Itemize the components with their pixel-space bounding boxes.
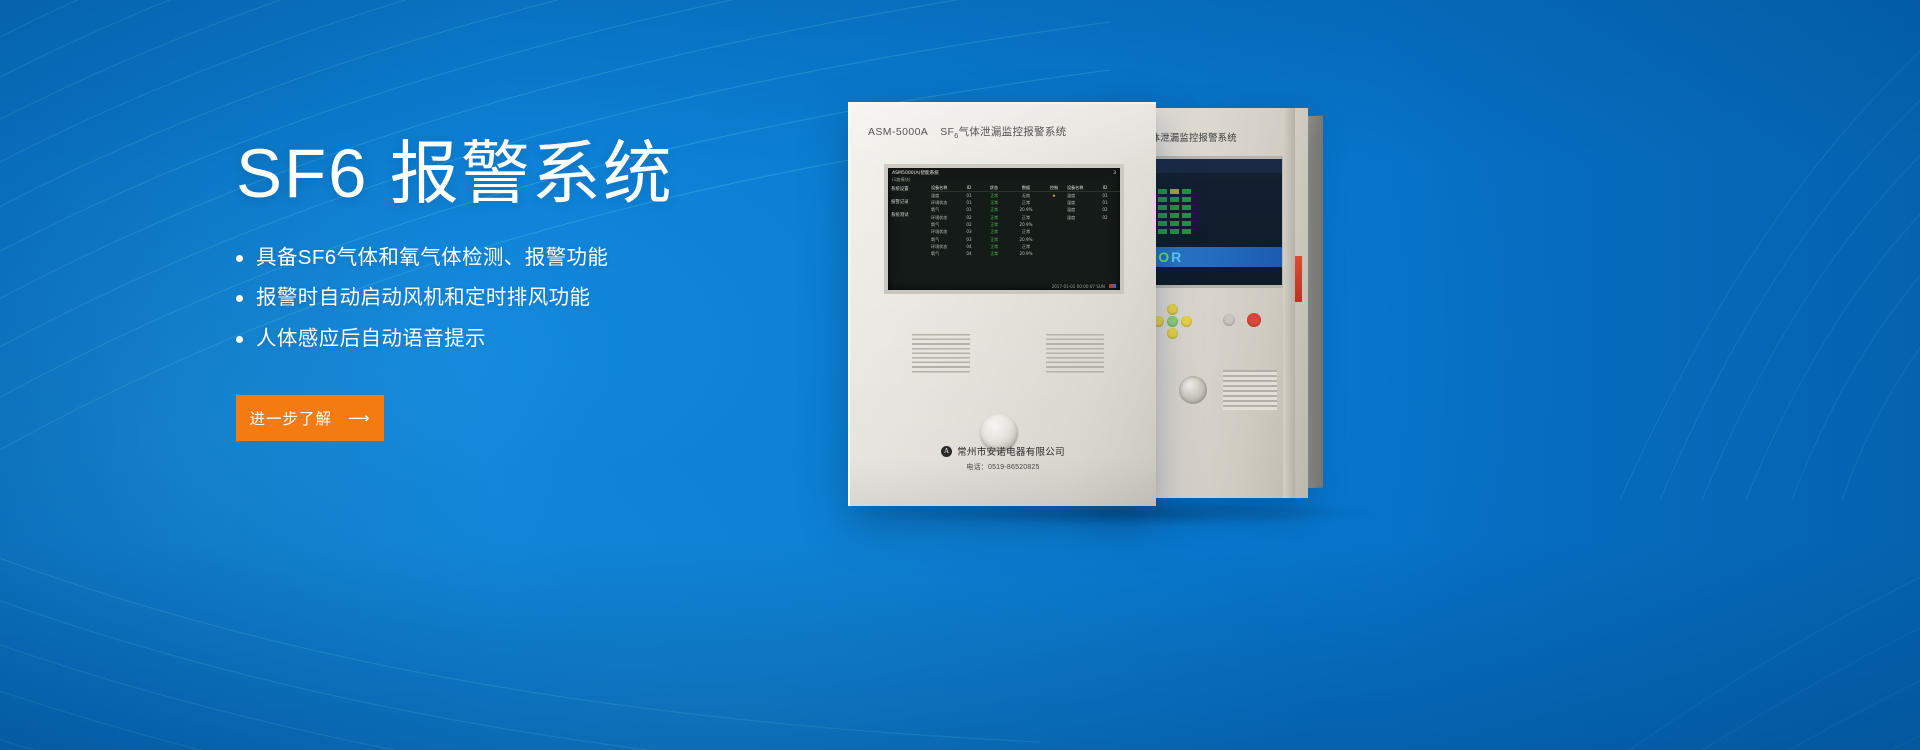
table-cell [1067, 238, 1097, 242]
front-cabinet: ASM-5000ASF6气体泄漏监控报警系统 ASM5000(A)智能系统 3 … [848, 102, 1156, 506]
screen-menu[interactable]: 系统设置 报警记录 系统测试 [888, 184, 928, 280]
table-cell [1041, 201, 1067, 205]
col-name-2: 设备名称 [1067, 186, 1097, 190]
table-cell: 氧气 [931, 208, 961, 212]
table-cell [1041, 208, 1067, 212]
screen-menu-item-0[interactable]: 系统设置 [891, 186, 926, 192]
rear-speaker-grille [1223, 370, 1277, 410]
table-cell: 环境状态 [931, 216, 961, 220]
table-cell: 正常 [977, 230, 1011, 234]
screen-header-count: 3 [1113, 171, 1116, 176]
col-ctrl: 控制 [1041, 186, 1067, 190]
table-cell: 正常 [977, 201, 1011, 205]
table-row[interactable]: 氧气04正常20.9% [931, 251, 1124, 258]
screen-main: 系统设置 报警记录 系统测试 设备名称 ID 状态 数据 控制 设备名称 ID [888, 184, 1120, 280]
table-cell: 正常 [1011, 216, 1041, 220]
learn-more-button[interactable]: 进一步了解 ⟶ [236, 395, 384, 441]
table-cell: 氧气 [931, 223, 961, 227]
company-row: A 常州市安诺电器有限公司 [850, 444, 1156, 458]
table-row[interactable]: 环境状态02正常正常湿度02正常09%RH [931, 214, 1124, 221]
front-cabinet-screen[interactable]: ASM5000(A)智能系统 3 (1路模块) 系统设置 报警记录 系统测试 设… [884, 164, 1124, 294]
brand-block: A 常州市安诺电器有限公司 电话：0519-86520825 [850, 444, 1156, 472]
screen-menu-item-2[interactable]: 系统测试 [891, 212, 926, 218]
rear-cabinet-edge [1283, 108, 1295, 498]
table-cell: 01 [1097, 194, 1113, 198]
front-title-prefix: SF [940, 126, 954, 138]
bullet-dot-icon [236, 336, 243, 343]
table-cell: 20.9% [1011, 208, 1041, 212]
table-row[interactable]: 环境状态01正常正常湿度01正常09%RH [931, 200, 1124, 207]
table-cell: 环境状态 [931, 201, 961, 205]
rear-cabinet-red-indicator [1295, 256, 1302, 302]
table-cell: 01 [961, 194, 977, 198]
table-cell [1097, 238, 1113, 242]
table-cell: 正常 [1113, 201, 1124, 205]
speaker-grille-left [912, 334, 970, 374]
table-cell: 温度 [1067, 208, 1097, 212]
page-title: SF6 报警系统 [236, 138, 856, 210]
table-cell: 环境状态 [931, 230, 961, 234]
table-cell: 正常 [1011, 245, 1041, 249]
table-cell [1067, 245, 1097, 249]
screen-timestamp: 2017-01-01 00:00:07 SUN [1052, 284, 1105, 289]
table-cell: 正常 [1113, 194, 1124, 198]
table-cell: 02 [1097, 208, 1113, 212]
screen-header: ASM5000(A)智能系统 3 [888, 168, 1120, 176]
table-row[interactable]: 湿度01正常无效★温度01正常00℃ [931, 192, 1124, 199]
table-cell: 正常 [977, 245, 1011, 249]
table-row[interactable]: 氧气02正常20.9% [931, 221, 1124, 228]
table-cell [1097, 230, 1113, 234]
feature-text: 报警时自动启动风机和定时排风功能 [256, 288, 590, 309]
table-cell: 01 [961, 208, 977, 212]
product-image-group: 0 B SF6 气体泄漏监控报警系统 ANOR [840, 88, 1360, 518]
bullet-dot-icon [236, 295, 243, 302]
keypad-button-right[interactable] [1181, 316, 1192, 327]
screen-menu-item-1[interactable]: 报警记录 [891, 199, 926, 205]
feature-list: 具备SF6气体和氧气体检测、报警功能 报警时自动启动风机和定时排风功能 人体感应… [236, 248, 856, 350]
table-row[interactable]: 环境状态03正常正常 [931, 229, 1124, 236]
table-cell: 无效 [1011, 194, 1041, 198]
table-cell [1113, 245, 1124, 249]
table-cell: 正常 [977, 238, 1011, 242]
table-cell: 正常 [977, 208, 1011, 212]
table-header-row: 设备名称 ID 状态 数据 控制 设备名称 ID 状态 数据 控制 [931, 184, 1124, 192]
table-cell: ★ [1041, 194, 1067, 198]
col-value: 数据 [1011, 186, 1041, 190]
list-item: 报警时自动启动风机和定时排风功能 [236, 288, 856, 309]
arrow-right-icon: ⟶ [348, 411, 371, 426]
table-cell: 湿度 [1067, 216, 1097, 220]
table-cell [1113, 252, 1124, 256]
company-logo-icon: A [941, 446, 952, 457]
learn-more-label: 进一步了解 [249, 407, 332, 429]
table-cell [1097, 223, 1113, 227]
screen-header-title: ASM5000(A)智能系统 [892, 170, 939, 176]
table-body: 湿度01正常无效★温度01正常00℃环境状态01正常正常湿度01正常09%RH氧… [931, 192, 1124, 258]
table-cell [1041, 252, 1067, 256]
hero-copy: SF6 报警系统 具备SF6气体和氧气体检测、报警功能 报警时自动启动风机和定时… [236, 138, 856, 441]
table-cell: 20.9% [1011, 223, 1041, 227]
front-title-rest: 气体泄漏监控报警系统 [958, 126, 1066, 138]
table-cell: 04 [961, 252, 977, 256]
table-cell: 正常 [977, 216, 1011, 220]
table-cell: 02 [1097, 216, 1113, 220]
feature-text: 具备SF6气体和氧气体检测、报警功能 [256, 248, 608, 269]
table-cell [1097, 245, 1113, 249]
speaker-grille-right [1046, 334, 1104, 374]
table-cell [1067, 252, 1097, 256]
screen-footer: 2017-01-01 00:00:07 SUN [888, 284, 1120, 289]
table-cell [1113, 230, 1124, 234]
table-cell [1113, 238, 1124, 242]
table-cell: 04 [961, 245, 977, 249]
table-cell: 正常 [977, 252, 1011, 256]
company-name: 常州市安诺电器有限公司 [957, 444, 1065, 458]
list-item: 具备SF6气体和氧气体检测、报警功能 [236, 248, 856, 269]
list-item: 人体感应后自动语音提示 [236, 329, 856, 350]
screen-subtitle: (1路模块) [888, 176, 1120, 184]
table-cell: 20.9% [1011, 238, 1041, 242]
keypad-button-down[interactable] [1167, 328, 1178, 339]
col-state: 状态 [977, 186, 1011, 190]
table-cell [1041, 230, 1067, 234]
language-flag-icon[interactable] [1109, 284, 1116, 288]
table-cell [1113, 223, 1124, 227]
table-cell [1041, 223, 1067, 227]
table-cell: 03 [961, 238, 977, 242]
hero-banner: SF6 报警系统 具备SF6气体和氧气体检测、报警功能 报警时自动启动风机和定时… [0, 0, 1920, 750]
front-model-number: ASM-5000A [868, 126, 928, 138]
table-cell [1067, 230, 1097, 234]
keypad-button-up[interactable] [1167, 304, 1178, 315]
table-cell [1067, 223, 1097, 227]
table-row[interactable]: 环境状态04正常正常 [931, 243, 1124, 250]
table-cell: 正常 [977, 223, 1011, 227]
table-cell: 01 [1097, 201, 1113, 205]
table-cell: 湿度 [931, 194, 961, 198]
table-cell: 环境状态 [931, 245, 961, 249]
table-cell [1041, 245, 1067, 249]
keypad-button-gray-3[interactable] [1223, 314, 1235, 326]
rear-sensor-lens-icon [1179, 376, 1207, 404]
front-cabinet-title: ASM-5000ASF6气体泄漏监控报警系统 [868, 124, 1066, 140]
table-cell: 正常 [977, 194, 1011, 198]
table-cell: 02 [961, 223, 977, 227]
table-cell: 湿度 [1067, 201, 1097, 205]
col-id-2: ID [1097, 186, 1113, 190]
screen-data-table: 设备名称 ID 状态 数据 控制 设备名称 ID 状态 数据 控制 湿度01正常… [928, 184, 1124, 280]
keypad-button-alarm[interactable] [1247, 313, 1261, 327]
table-cell: 正常 [1011, 230, 1041, 234]
table-cell: 氧气 [931, 238, 961, 242]
table-row[interactable]: 氧气03正常20.9% [931, 236, 1124, 243]
table-cell: 03 [961, 230, 977, 234]
table-cell: 正常 [1011, 201, 1041, 205]
table-cell [1041, 216, 1067, 220]
table-cell: 氧气 [931, 252, 961, 256]
col-id: ID [961, 186, 977, 190]
table-cell: 01 [961, 201, 977, 205]
keypad-button-enter[interactable] [1167, 316, 1178, 327]
table-cell [1041, 238, 1067, 242]
table-cell: 20.9% [1011, 252, 1041, 256]
table-cell [1097, 252, 1113, 256]
bullet-dot-icon [236, 255, 243, 262]
table-cell: 02 [961, 216, 977, 220]
col-state-2: 状态 [1113, 186, 1124, 190]
table-cell: 正常 [1113, 208, 1124, 212]
feature-text: 人体感应后自动语音提示 [256, 329, 486, 350]
company-phone: 电话：0519-86520825 [850, 462, 1156, 472]
col-name: 设备名称 [931, 186, 961, 190]
table-row[interactable]: 氧气01正常20.9%温度02正常00℃ [931, 207, 1124, 214]
table-cell: 正常 [1113, 216, 1124, 220]
table-cell: 温度 [1067, 194, 1097, 198]
